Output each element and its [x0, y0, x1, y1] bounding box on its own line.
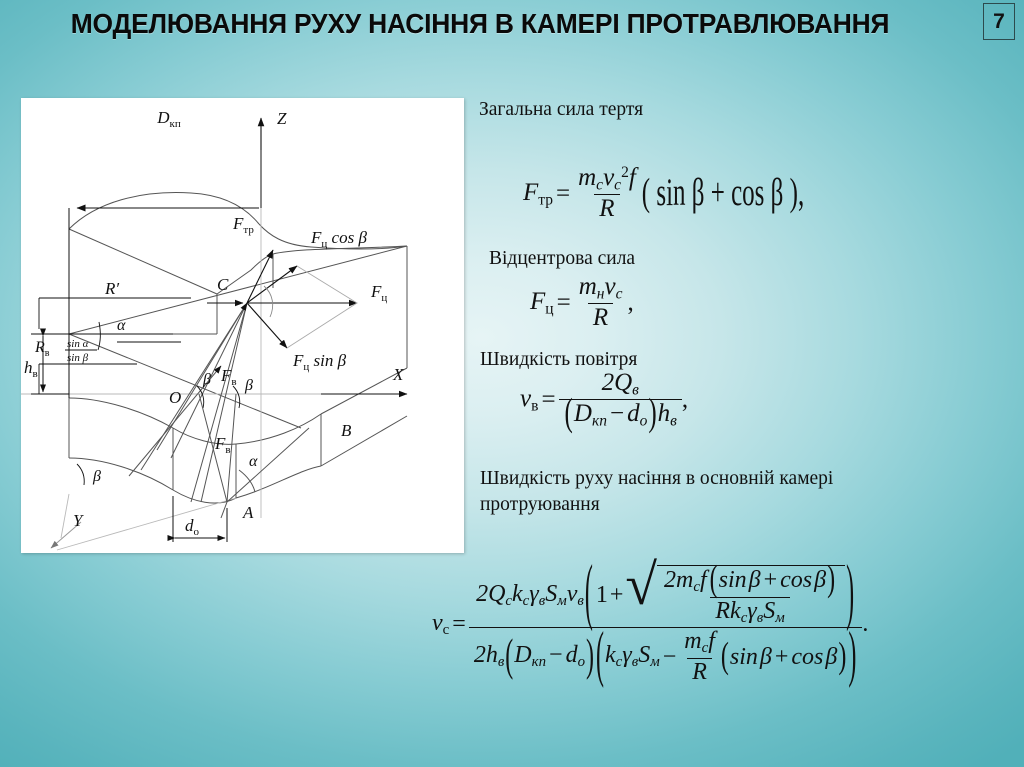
label-point-b: B [341, 421, 352, 440]
f3-D: D [574, 400, 592, 427]
label-F-c: Fц [370, 282, 387, 304]
f3-denominator: (Dкп−do)hв [559, 399, 682, 429]
f3-h-sub: в [670, 413, 677, 430]
f1-fraction: mcvc2f R [573, 165, 641, 222]
slide-number-badge: 7 [983, 3, 1015, 40]
page-title: МОДЕЛЮВАННЯ РУХУ НАСІННЯ В КАМЕРІ ПРОТРА… [58, 6, 903, 41]
f2-fraction: mнvc R [574, 274, 628, 331]
f3-lhs-sub: в [531, 397, 538, 414]
label-F-v-2: Fв [214, 434, 231, 456]
f1-lhs: F [523, 179, 538, 206]
label-axis-x: Χ [392, 365, 404, 384]
f1-v: v [603, 164, 614, 191]
f3-h: h [658, 400, 671, 427]
formula-centrifugal-force: Fц = mнvc R , [530, 274, 634, 331]
f3-fraction: 2Qв (Dкп−do)hв [559, 370, 682, 430]
f1-f: f [629, 164, 636, 191]
label-F-tr: Fтр [232, 214, 254, 236]
f2-v: v [604, 273, 615, 300]
f1-lhs-sub: тр [538, 191, 553, 208]
f4-lhs: v [432, 610, 443, 636]
f1-m: m [578, 164, 596, 191]
label-Rv-ratio: Rв [34, 339, 50, 359]
formula-air-velocity: vв = 2Qв (Dкп−do)hв , [520, 370, 688, 430]
label-d-o: do [185, 516, 200, 538]
label-alpha-bottom: α [249, 453, 258, 470]
f1-group: ( sin β + cos β ), [642, 172, 804, 215]
f2-lhs: F [530, 288, 545, 315]
label-alpha-top: α [117, 317, 126, 334]
f1-numerator: mcvc2f [573, 165, 641, 194]
f3-d-sub: o [640, 413, 648, 430]
label-beta-2: β [202, 371, 211, 388]
f3-D-sub: кп [592, 413, 607, 430]
f4-terminator: . [862, 611, 868, 638]
f2-m: m [579, 273, 597, 300]
f3-Q: 2Q [602, 369, 633, 396]
label-F-c-sin-beta: Fц sin β [292, 351, 347, 373]
slide-canvas: МОДЕЛЮВАННЯ РУХУ НАСІННЯ В КАМЕРІ ПРОТРА… [0, 0, 1024, 767]
label-point-c: C [217, 275, 229, 294]
label-air-velocity: Швидкість повітря [480, 349, 637, 371]
label-beta-1: β [92, 468, 101, 485]
label-beta-3: β [244, 377, 253, 394]
f2-comma: , [627, 289, 633, 317]
f3-comma: , [682, 386, 688, 414]
label-centrifugal-force: Відцентрова сила [489, 248, 635, 270]
f2-numerator: mнvc [574, 274, 628, 303]
label-sin-alpha: sin α [67, 338, 89, 350]
label-D-kp: Dкп [156, 108, 181, 130]
f3-numerator: 2Qв [597, 370, 644, 399]
label-axis-z: Z [277, 109, 287, 128]
label-seed-velocity: Швидкість руху насіння в основній камері… [480, 466, 950, 518]
formula-friction-force: Fтр = mcvc2f R ( sin β + cos β ), [523, 165, 805, 222]
f4-fraction: 2QckcγвSмvв ( 1 + √ 2mcf (sin β+cos β) R… [469, 565, 863, 685]
f1-v-sup: 2 [621, 164, 629, 181]
chamber-diagram: Dкп Z α hв R′ [21, 98, 464, 553]
f3-d: d [627, 400, 640, 427]
formula-seed-velocity: vc = 2QckcγвSмvв ( 1 + √ 2mcf (sin β+cos… [432, 565, 868, 685]
label-total-friction-force: Загальна сила тертя [479, 99, 643, 121]
label-F-v: Fв [220, 366, 237, 388]
f2-denominator: R [588, 303, 613, 331]
label-sin-beta: sin β [67, 352, 89, 364]
f2-v-sub: c [616, 285, 623, 302]
label-h-v: hв [24, 358, 38, 380]
f4-sqrt: √ 2mcf (sin β+cos β) RkcγвSм [625, 565, 845, 626]
f2-lhs-sub: ц [545, 300, 553, 317]
label-axis-y: Υ [73, 511, 84, 530]
label-r-prime: R′ [104, 279, 119, 298]
label-point-o: O [169, 388, 181, 407]
label-point-a: A [242, 503, 254, 522]
f4-denominator: 2hв ( Dкп−do ) ( kcγвSм − mcf R (sin β+c… [469, 627, 863, 685]
f3-lhs: v [520, 385, 531, 412]
f4-lhs-sub: c [443, 622, 450, 638]
diagram-panel: Dкп Z α hв R′ [21, 98, 464, 553]
label-F-c-cos-beta: Fц cos β [310, 228, 367, 250]
f4-numerator: 2QckcγвSмvв ( 1 + √ 2mcf (sin β+cos β) R… [471, 565, 860, 627]
f3-Q-sub: в [632, 381, 639, 398]
f1-denominator: R [594, 194, 619, 222]
